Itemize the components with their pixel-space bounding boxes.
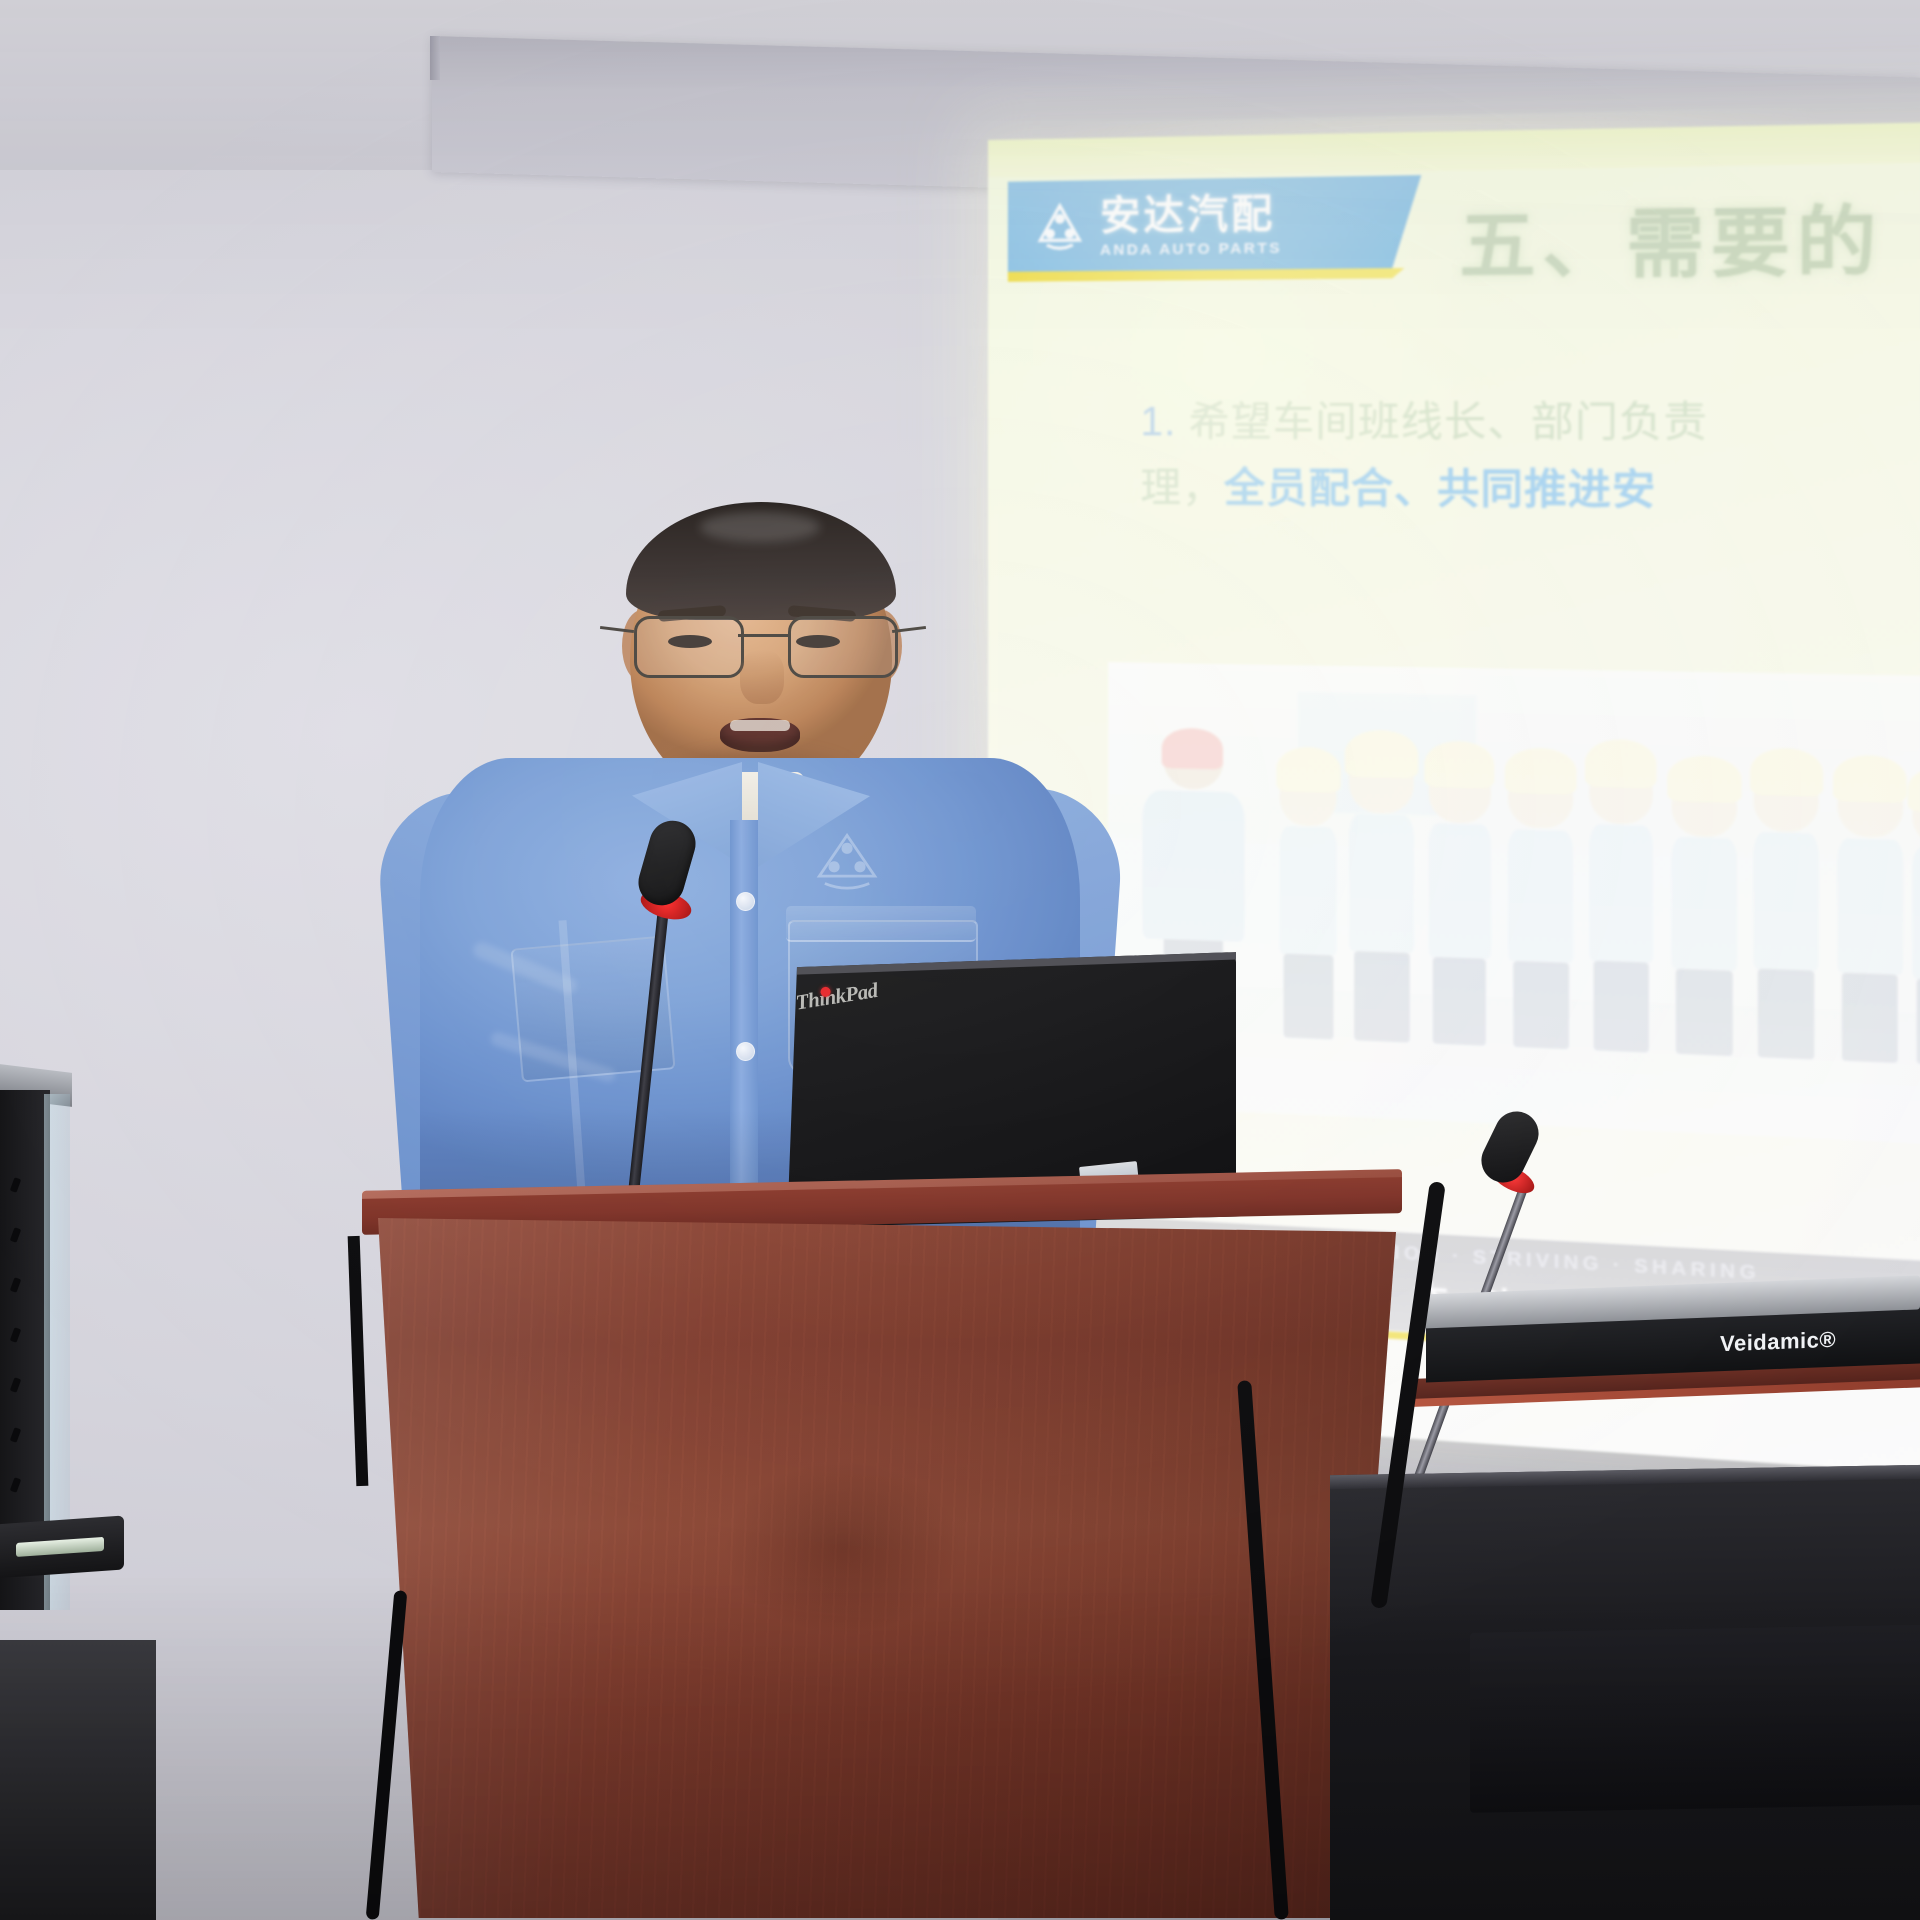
slide-body: 1. 希望车间班线长、部门负责 理，全员配合、共同推进安 (1140, 388, 1920, 527)
ceiling-bulkhead-edge (430, 36, 440, 80)
bullet-text-2-highlight: 全员配合、共同推进安 (1224, 466, 1656, 514)
bullet-text-1: 希望车间班线长、部门负责 (1189, 399, 1708, 445)
hair-highlight (700, 512, 820, 542)
cabinet-handle-slot (16, 1537, 104, 1557)
lens-right (788, 616, 898, 678)
podium-microphone[interactable] (500, 820, 760, 1240)
nose (740, 650, 784, 704)
slide-bullet-line-1: 1. 希望车间班线长、部门负责 (1140, 388, 1920, 457)
conference-unit-brand-label: Veidamic® (1720, 1327, 1836, 1357)
slide-bullet-line-2: 理，全员配合、共同推进安 (1140, 455, 1920, 527)
bullet-number: 1. (1140, 400, 1176, 445)
bullet-text-2-plain: 理， (1140, 465, 1224, 510)
teeth (730, 720, 790, 731)
brand-name-en: ANDA AUTO PARTS (1100, 240, 1282, 257)
cabinet-handle[interactable] (0, 1515, 124, 1578)
slide-brand-text: 安达汽配 ANDA AUTO PARTS (1100, 193, 1282, 257)
podium-sheen (378, 1218, 1396, 1918)
presentation-scene: 安达汽配 ANDA AUTO PARTS 五、需要的 1. 希望车间班线长、部门… (0, 0, 1920, 1920)
slide-brand-tab: 安达汽配 ANDA AUTO PARTS (1008, 175, 1421, 274)
conference-mic-unit[interactable]: Veidamic® (1420, 1285, 1920, 1495)
right-side-table (1330, 1465, 1920, 1920)
thinkpad-laptop[interactable]: ThinkPad (788, 952, 1236, 1204)
company-logo-embroidery-icon (804, 828, 916, 902)
secondary-mic-capsule-icon (1474, 1104, 1546, 1190)
slide-title: 五、需要的 (1459, 178, 1883, 293)
trefoil-logo-icon (1034, 201, 1086, 254)
lens-left (634, 616, 744, 678)
microphone-capsule-icon (633, 815, 701, 910)
left-dark-panel (0, 1640, 156, 1920)
table-equipment (1470, 1625, 1920, 1813)
brand-name-cn: 安达汽配 (1100, 193, 1282, 236)
glasses-bridge (738, 634, 788, 637)
